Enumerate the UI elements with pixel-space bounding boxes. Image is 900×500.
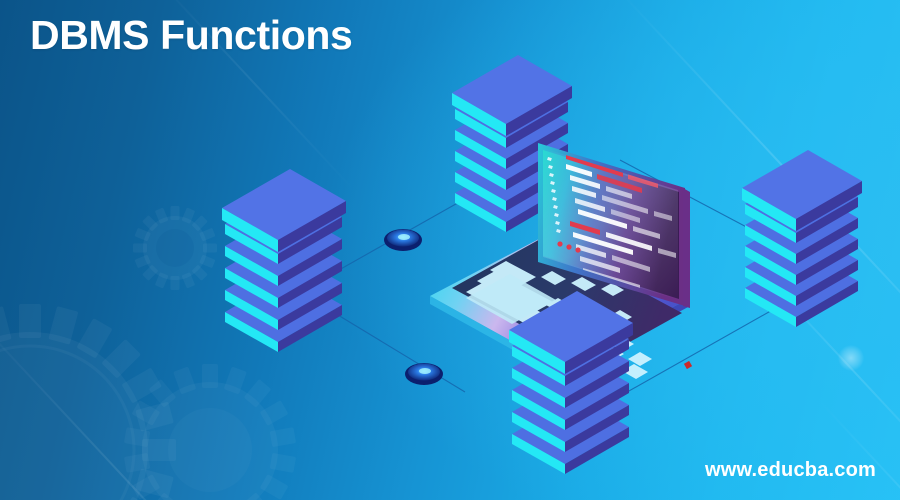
isometric-database-network [0,0,900,500]
server-stack-right[interactable] [742,150,862,327]
network-node-upper[interactable] [384,229,422,251]
site-watermark: www.educba.com [705,459,876,482]
page-title: DBMS Functions [30,12,352,59]
link-marker-red [684,361,692,369]
server-stack-left[interactable] [222,169,346,352]
network-node-lower[interactable] [405,363,443,385]
banner-canvas: DBMS Functions www.educba.com [0,0,900,500]
